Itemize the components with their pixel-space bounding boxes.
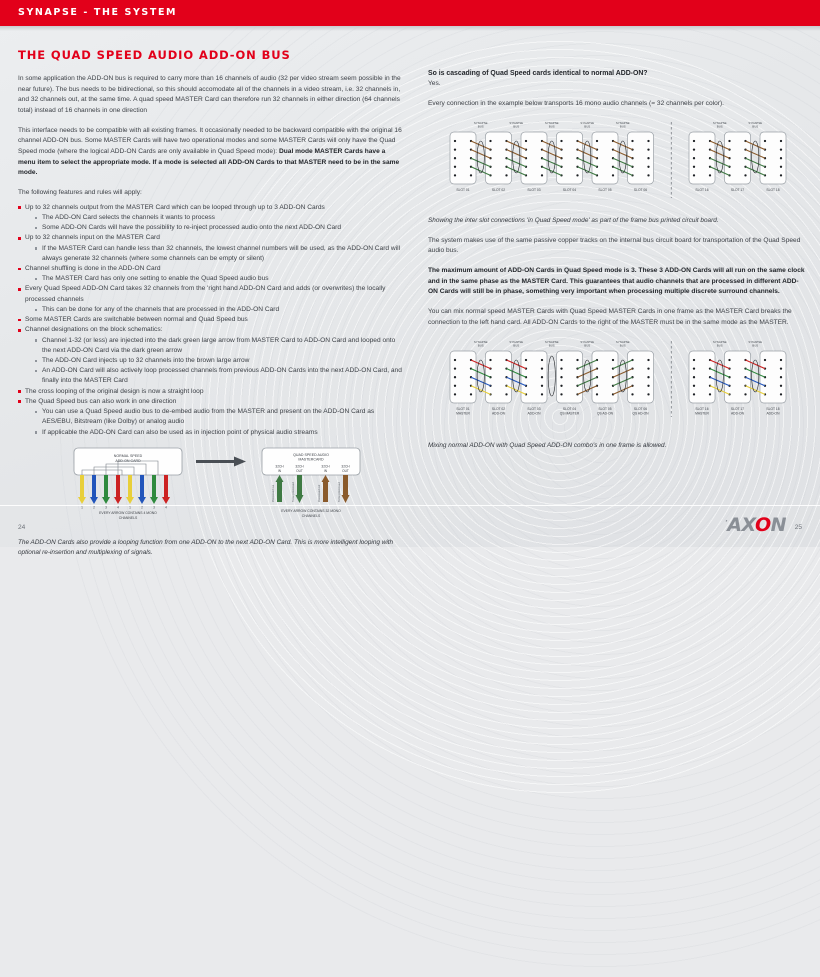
slot-pin xyxy=(454,394,456,396)
rule-sublist: If the MASTER Card can handle less than … xyxy=(25,244,403,264)
slot-pin xyxy=(631,140,633,142)
rule-subitem: You can use a Quad Speed audio bus to de… xyxy=(35,407,403,427)
normal-card-arrows xyxy=(78,475,170,504)
slot-pin xyxy=(576,175,578,177)
slot-pin xyxy=(454,368,456,370)
quad-speed-card-title-1: QUAD SPEED AUDIO xyxy=(293,453,329,457)
slot-pin xyxy=(560,376,562,378)
synapse-bus-label: BUS xyxy=(549,125,555,129)
slot-pin xyxy=(780,368,782,370)
intro-paragraph-2: This interface needs to be compatible wi… xyxy=(18,126,403,179)
slot-pin xyxy=(693,166,695,168)
slot-pin xyxy=(454,149,456,151)
rule-item-label: The cross looping of the original design… xyxy=(25,388,204,395)
rule-subitem: Channel 1-32 (or less) are injected into… xyxy=(35,336,403,356)
synapse-bus-label: BUS xyxy=(717,344,723,348)
slot-pin xyxy=(647,157,649,159)
slot-label-id: SLOT 04 xyxy=(563,407,576,411)
normal-card-caption-1: EVERY ARROW CONTAINS 4 MONO xyxy=(99,511,157,515)
slot-label-role: QS MASTER xyxy=(560,412,580,416)
rule-subitem: The ADD-ON Card selects the channels it … xyxy=(35,213,403,223)
rule-subitem: An ADD-ON Card will also actively loop p… xyxy=(35,366,403,386)
quad-speed-card-title-2: MASTERCARD xyxy=(298,457,324,461)
rule-item: Some MASTER Cards are switchable between… xyxy=(18,315,403,325)
slot-pin xyxy=(596,140,598,142)
rule-subitem: The MASTER Card has only one setting to … xyxy=(35,274,403,284)
slot-pin xyxy=(454,385,456,387)
rule-item: The Quad Speed bus can also work in one … xyxy=(18,397,403,438)
synapse-bus-label: BUS xyxy=(620,344,626,348)
slot-pin xyxy=(647,166,649,168)
slot-label-id: SLOT 02 xyxy=(492,407,505,411)
slot-pin xyxy=(560,394,562,396)
quad-arrow-side-label: Processed out xyxy=(317,484,321,501)
slot-pin xyxy=(780,157,782,159)
slot-bus-diagram-1: SYNAPSEBUSSYNAPSEBUSSYNAPSEBUSSYNAPSEBUS… xyxy=(428,118,806,210)
slot-pin xyxy=(693,385,695,387)
cascading-question: So is cascading of Quad Speed cards iden… xyxy=(428,70,806,77)
quad-arrow-side-label: To be processed xyxy=(291,482,295,502)
slot-label-id: SLOT 01 xyxy=(456,407,469,411)
slot-label-id: SLOT 04 xyxy=(563,188,576,192)
slot-pin xyxy=(780,175,782,177)
slot-label-id: SLOT 17 xyxy=(731,188,744,192)
rule-sublist: The MASTER Card has only one setting to … xyxy=(25,274,403,284)
slot-pin xyxy=(764,359,766,361)
slot-pin xyxy=(541,385,543,387)
slot-pin xyxy=(693,149,695,151)
slot-pin xyxy=(709,394,711,396)
rule-sublist: You can use a Quad Speed audio bus to de… xyxy=(25,407,403,438)
passive-tracks-paragraph: The system makes use of the same passive… xyxy=(428,236,806,257)
synapse-bus-label: BUS xyxy=(752,125,758,129)
slot-pin xyxy=(647,140,649,142)
axon-logo-o: O xyxy=(755,514,771,536)
slot-label-role: ADD-ON xyxy=(766,412,780,416)
slot-label-role: MASTER xyxy=(695,412,709,416)
quad-card-caption-1: EVERY ARROW CONTAINS 32 MONO xyxy=(281,509,341,513)
max-addon-paragraph: The maximum amount of ADD-ON Cards in Qu… xyxy=(428,266,806,298)
quad-port-label-bottom: OUT xyxy=(296,469,303,473)
slot-pin xyxy=(647,359,649,361)
rule-item: Channel shuffling is done in the ADD-ON … xyxy=(18,264,403,284)
synapse-bus-label: BUS xyxy=(513,344,519,348)
slot-bus-diagram-2-svg: SYNAPSEBUSSYNAPSEBUSSYNAPSEBUSSYNAPSEBUS… xyxy=(428,337,806,435)
slot-pin xyxy=(596,394,598,396)
rule-subitem: If the MASTER Card can handle less than … xyxy=(35,244,403,264)
slot-pin xyxy=(780,140,782,142)
page-title: THE QUAD SPEED AUDIO ADD-ON BUS xyxy=(18,48,403,62)
synapse-bus-label: BUS xyxy=(717,125,723,129)
axon-logo-a: A xyxy=(727,514,741,536)
quad-port-label-top: 32CH xyxy=(275,464,284,468)
rule-subitem: This can be done for any of the channels… xyxy=(35,305,403,315)
page-number-left: 24 xyxy=(18,524,25,531)
quad-arrow-side-label: To be processed xyxy=(337,482,341,502)
slot-pin xyxy=(647,385,649,387)
slot-pin xyxy=(709,175,711,177)
slot-pin xyxy=(541,394,543,396)
slot-label-id: SLOT 16 xyxy=(695,188,708,192)
slot-pin xyxy=(693,175,695,177)
rule-item-label: Up to 32 channels output from the MASTER… xyxy=(25,204,325,211)
slot-pin xyxy=(470,394,472,396)
synapse-bus-label: BUS xyxy=(752,344,758,348)
rule-item: Every Quad Speed ADD-ON Card takes 32 ch… xyxy=(18,284,403,315)
slot-label-id: SLOT 03 xyxy=(527,188,540,192)
quad-arrow-side-label: Processed out xyxy=(271,484,275,501)
slot-label-id: SLOT 02 xyxy=(492,188,505,192)
slot-pin xyxy=(647,368,649,370)
quad-port-label-top: 32CH xyxy=(341,464,350,468)
intro-paragraph-1: In some application the ADD-ON bus is re… xyxy=(18,74,403,117)
rule-item-label: The Quad Speed bus can also work in one … xyxy=(25,398,176,405)
right-column: So is cascading of Quad Speed cards iden… xyxy=(428,70,806,452)
rule-subitem: Some ADD-ON Cards will have the possibil… xyxy=(35,223,403,233)
slot-pin xyxy=(780,376,782,378)
quad-card-caption-2: CHANNELS xyxy=(302,514,321,518)
rule-item: The cross looping of the original design… xyxy=(18,387,403,397)
slot-bus-diagram-2: SYNAPSEBUSSYNAPSEBUSSYNAPSEBUSSYNAPSEBUS… xyxy=(428,337,806,435)
page-number-right: 25 xyxy=(795,524,802,531)
slot-label-id: SLOT 06 xyxy=(634,407,647,411)
slot-pin xyxy=(780,359,782,361)
slot-pin xyxy=(764,140,766,142)
synapse-bus-label: BUS xyxy=(549,344,555,348)
slot-label-id: SLOT 03 xyxy=(527,407,540,411)
quad-port-label-top: 32CH xyxy=(295,464,304,468)
slot-pin xyxy=(560,368,562,370)
slot-pin xyxy=(454,157,456,159)
slot-label-role: ADD-ON xyxy=(492,412,506,416)
rule-item: Channel designations on the block schema… xyxy=(18,325,403,386)
slot-pin xyxy=(728,140,730,142)
slot-pin xyxy=(780,394,782,396)
rule-item-label: Some MASTER Cards are switchable between… xyxy=(25,316,248,323)
slot-pin xyxy=(489,140,491,142)
slot-pin xyxy=(525,140,527,142)
rule-subitem: The ADD-ON Card injects up to 32 channel… xyxy=(35,356,403,366)
left-column: THE QUAD SPEED AUDIO ADD-ON BUS In some … xyxy=(18,48,403,558)
slot-label-id: SLOT 05 xyxy=(598,407,611,411)
slot-pin xyxy=(612,175,614,177)
synapse-bus-label: BUS xyxy=(584,125,590,129)
slot-pin xyxy=(693,157,695,159)
slot-pin xyxy=(647,376,649,378)
rule-item: Up to 32 channels output from the MASTER… xyxy=(18,203,403,234)
slot-pin xyxy=(541,368,543,370)
slot-pin xyxy=(693,376,695,378)
slot-pin xyxy=(541,359,543,361)
slot-pin xyxy=(693,359,695,361)
slot-pin xyxy=(647,149,649,151)
slot-pin xyxy=(647,394,649,396)
slot-label-id: SLOT 01 xyxy=(456,188,469,192)
cascading-answer: Yes. xyxy=(428,79,806,90)
slot-label-id: SLOT 06 xyxy=(634,188,647,192)
page-header-bar: SYNAPSE - THE SYSTEM xyxy=(0,0,820,26)
slot-pin xyxy=(693,368,695,370)
slot-pin xyxy=(560,385,562,387)
slot-pin xyxy=(454,140,456,142)
footer-divider xyxy=(0,505,820,506)
slot-pin xyxy=(454,376,456,378)
bus-connector-outline xyxy=(548,356,555,396)
slot-label-role: ADD-ON xyxy=(527,412,541,416)
slot-pin xyxy=(744,394,746,396)
slot-label-role: ADD-ON xyxy=(731,412,745,416)
synapse-bus-label: BUS xyxy=(478,125,484,129)
quad-port-label-top: 32CH xyxy=(321,464,330,468)
slot-pin xyxy=(525,359,527,361)
looping-diagram-caption: The ADD-ON Cards also provide a looping … xyxy=(18,538,403,559)
slot-pin xyxy=(541,175,543,177)
slot-label-role: QS AD-ON xyxy=(632,412,649,416)
slot-pin xyxy=(612,359,614,361)
axon-logo: ·AXON xyxy=(725,516,786,535)
slot-pin xyxy=(470,175,472,177)
rule-sublist: This can be done for any of the channels… xyxy=(25,305,403,315)
rule-item-label: Channel shuffling is done in the ADD-ON … xyxy=(25,265,161,272)
slot-label-role: MASTER xyxy=(456,412,470,416)
normal-speed-card-title-1: NORMAL SPEED xyxy=(114,454,143,458)
normal-card-caption-2: CHANNELS xyxy=(119,516,138,520)
synapse-bus-label: BUS xyxy=(620,125,626,129)
slot-label-id: SLOT 18 xyxy=(766,407,779,411)
slot-label-id: SLOT 18 xyxy=(766,188,779,192)
looping-diagram: NORMAL SPEED ADD-ON CARD 12341234 xyxy=(18,444,403,532)
slot-pin xyxy=(647,175,649,177)
rule-item-label: Channel designations on the block schema… xyxy=(25,326,162,333)
rule-item-label: Every Quad Speed ADD-ON Card takes 32 ch… xyxy=(25,285,385,302)
slot-bus-diagram-1-svg: SYNAPSEBUSSYNAPSEBUSSYNAPSEBUSSYNAPSEBUS… xyxy=(428,118,806,210)
header-shadow xyxy=(0,26,820,31)
quad-port-label-bottom: OUT xyxy=(342,469,349,473)
slot-pin xyxy=(454,166,456,168)
rule-sublist: Channel 1-32 (or less) are injected into… xyxy=(25,336,403,387)
slot-pin xyxy=(728,359,730,361)
slot-pin xyxy=(505,394,507,396)
slot-pin xyxy=(631,394,633,396)
synapse-bus-label: BUS xyxy=(513,125,519,129)
rules-lead-in: The following features and rules will ap… xyxy=(18,188,403,199)
slot-pin xyxy=(693,140,695,142)
slot-bus-diagram-2-caption: Mixing normal ADD-ON with Quad Speed ADD… xyxy=(428,441,806,451)
slot-label-role: QS AD-ON xyxy=(597,412,614,416)
slot-label-id: SLOT 17 xyxy=(731,407,744,411)
slot-bus-diagram-1-caption: Showing the inter slot connections 'in Q… xyxy=(428,216,806,226)
synapse-bus-label: BUS xyxy=(584,344,590,348)
connection-paragraph: Every connection in the example below tr… xyxy=(428,99,806,110)
rule-item: Up to 32 channels input on the MASTER Ca… xyxy=(18,233,403,264)
slot-pin xyxy=(576,359,578,361)
rule-sublist: The ADD-ON Card selects the channels it … xyxy=(25,213,403,233)
slot-pin xyxy=(560,359,562,361)
slot-label-id: SLOT 05 xyxy=(598,188,611,192)
looping-diagram-svg: NORMAL SPEED ADD-ON CARD 12341234 xyxy=(18,444,403,532)
rule-subitem: If applicable the ADD-ON Card can also b… xyxy=(35,428,403,438)
slot-pin xyxy=(454,175,456,177)
rule-item-label: Up to 32 channels input on the MASTER Ca… xyxy=(25,234,160,241)
rules-list: Up to 32 channels output from the MASTER… xyxy=(18,203,403,438)
transition-arrow xyxy=(196,456,246,466)
slot-pin xyxy=(744,175,746,177)
slot-pin xyxy=(780,149,782,151)
slot-pin xyxy=(560,140,562,142)
page-header-title: SYNAPSE - THE SYSTEM xyxy=(18,7,177,18)
axon-logo-x: X xyxy=(741,514,754,536)
mixing-paragraph: You can mix normal speed MASTER Cards wi… xyxy=(428,307,806,328)
slot-pin xyxy=(489,359,491,361)
slot-pin xyxy=(541,376,543,378)
slot-pin xyxy=(505,175,507,177)
slot-label-id: SLOT 16 xyxy=(695,407,708,411)
synapse-bus-label: BUS xyxy=(478,344,484,348)
axon-logo-n: N xyxy=(771,514,786,536)
slot-pin xyxy=(780,166,782,168)
slot-pin xyxy=(693,394,695,396)
slot-pin xyxy=(454,359,456,361)
slot-pin xyxy=(780,385,782,387)
